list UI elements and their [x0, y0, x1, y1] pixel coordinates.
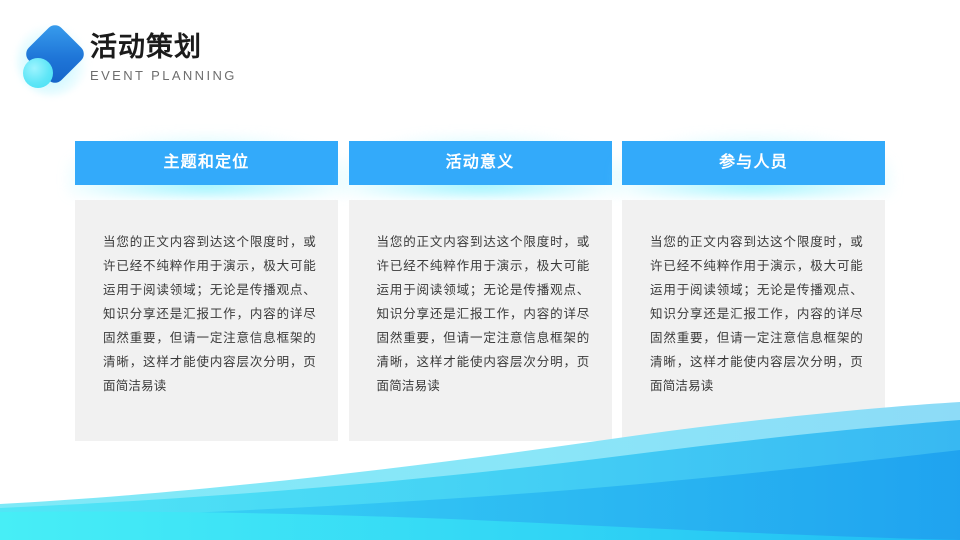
content-card[interactable]: 参与人员 当您的正文内容到达这个限度时，或许已经不纯粹作用于演示，极大可能运用于…: [622, 141, 885, 441]
logo-circle-shape: [23, 58, 53, 88]
card-body: 当您的正文内容到达这个限度时，或许已经不纯粹作用于演示，极大可能运用于阅读领域；…: [349, 200, 612, 441]
wave-layer-blue: [0, 450, 960, 540]
card-header-bar: 活动意义: [349, 141, 612, 185]
card-title: 活动意义: [446, 141, 515, 185]
page-subtitle: EVENT PLANNING: [90, 67, 237, 85]
title-block: 活动策划 EVENT PLANNING: [90, 30, 237, 85]
wave-layer-cyan: [0, 512, 960, 540]
page-title: 活动策划: [90, 30, 237, 64]
card-body-text: 当您的正文内容到达这个限度时，或许已经不纯粹作用于演示，极大可能运用于阅读领域；…: [103, 230, 316, 398]
diamond-logo-icon: [14, 22, 90, 98]
card-header: 参与人员: [622, 141, 885, 185]
slide-canvas: 活动策划 EVENT PLANNING 主题和定位 当您的正文内容到达这个限度时…: [0, 0, 960, 540]
card-header-bar: 主题和定位: [75, 141, 338, 185]
content-card[interactable]: 主题和定位 当您的正文内容到达这个限度时，或许已经不纯粹作用于演示，极大可能运用…: [75, 141, 338, 441]
card-body: 当您的正文内容到达这个限度时，或许已经不纯粹作用于演示，极大可能运用于阅读领域；…: [622, 200, 885, 441]
card-body: 当您的正文内容到达这个限度时，或许已经不纯粹作用于演示，极大可能运用于阅读领域；…: [75, 200, 338, 441]
card-title: 参与人员: [719, 141, 788, 185]
content-card[interactable]: 活动意义 当您的正文内容到达这个限度时，或许已经不纯粹作用于演示，极大可能运用于…: [349, 141, 612, 441]
card-row: 主题和定位 当您的正文内容到达这个限度时，或许已经不纯粹作用于演示，极大可能运用…: [75, 141, 885, 441]
card-title: 主题和定位: [163, 141, 249, 185]
slide-header: 活动策划 EVENT PLANNING: [14, 22, 434, 102]
card-header-bar: 参与人员: [622, 141, 885, 185]
card-body-text: 当您的正文内容到达这个限度时，或许已经不纯粹作用于演示，极大可能运用于阅读领域；…: [377, 230, 590, 398]
card-body-text: 当您的正文内容到达这个限度时，或许已经不纯粹作用于演示，极大可能运用于阅读领域；…: [650, 230, 863, 398]
card-header: 活动意义: [349, 141, 612, 185]
card-header: 主题和定位: [75, 141, 338, 185]
